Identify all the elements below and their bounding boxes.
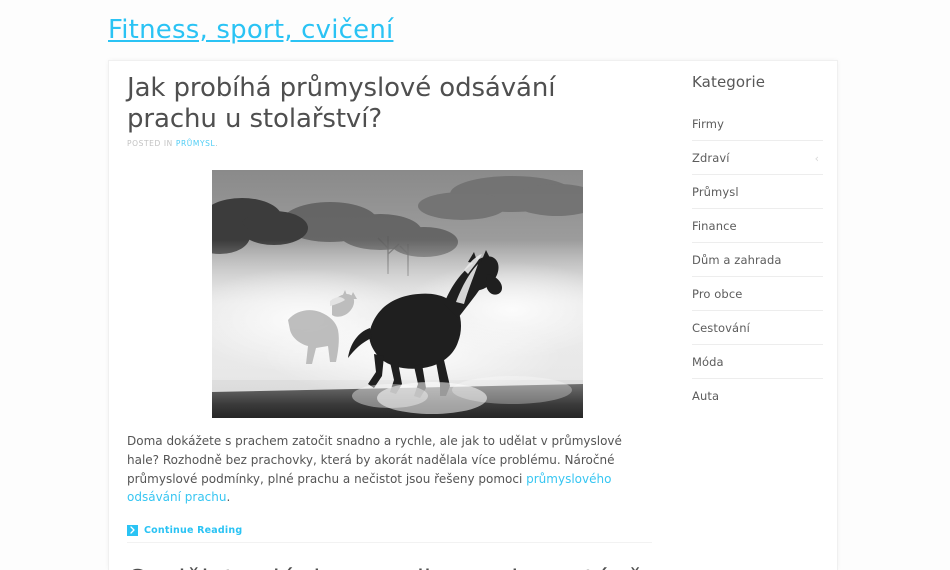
sidebar: Kategorie Firmy Zdraví ‹ Průmysl Finance… bbox=[674, 61, 837, 570]
sidebar-item-zdravi[interactable]: Zdraví ‹ bbox=[692, 141, 823, 175]
chevron-right-icon bbox=[127, 525, 138, 536]
featured-image-wrap bbox=[127, 170, 652, 418]
sidebar-item-label: Auta bbox=[692, 389, 719, 403]
sidebar-item-cestovani[interactable]: Cestování bbox=[692, 311, 823, 345]
sidebar-item-label: Průmysl bbox=[692, 185, 739, 199]
post-article: Jak probíhá průmyslové odsávání prachu u… bbox=[127, 73, 652, 542]
sidebar-item-pro-obce[interactable]: Pro obce bbox=[692, 277, 823, 311]
post-article: Co dělat celé dny s rodinou v karanténě … bbox=[127, 542, 652, 570]
sidebar-item-moda[interactable]: Móda bbox=[692, 345, 823, 379]
sidebar-item-label: Dům a zahrada bbox=[692, 253, 782, 267]
main-content-column: Jak probíhá průmyslové odsávání prachu u… bbox=[109, 61, 674, 570]
post-meta-category-link[interactable]: PRŮMYSL bbox=[176, 139, 215, 148]
sidebar-item-label: Finance bbox=[692, 219, 737, 233]
site-title[interactable]: Fitness, sport, cvičení bbox=[108, 17, 393, 43]
post-meta-suffix: . bbox=[215, 139, 218, 148]
sidebar-item-label: Firmy bbox=[692, 117, 724, 131]
post-title[interactable]: Co dělat celé dny s rodinou v karanténě bbox=[127, 565, 652, 570]
continue-reading-link[interactable]: Continue Reading bbox=[144, 525, 242, 536]
sidebar-item-label: Cestování bbox=[692, 321, 750, 335]
chevron-left-icon: ‹ bbox=[815, 153, 823, 164]
content-container: Jak probíhá průmyslové odsávání prachu u… bbox=[108, 60, 838, 570]
sidebar-item-prumysl[interactable]: Průmysl bbox=[692, 175, 823, 209]
sidebar-item-firmy[interactable]: Firmy bbox=[692, 107, 823, 141]
category-list: Firmy Zdraví ‹ Průmysl Finance Dům a zah… bbox=[692, 107, 823, 412]
featured-image-horses[interactable] bbox=[212, 170, 583, 418]
sidebar-title: Kategorie bbox=[692, 73, 823, 91]
post-title-text: Jak probíhá průmyslové odsávání prachu u… bbox=[127, 73, 555, 134]
continue-reading-row[interactable]: Continue Reading bbox=[127, 525, 652, 536]
sidebar-item-auta[interactable]: Auta bbox=[692, 379, 823, 412]
sidebar-item-label: Móda bbox=[692, 355, 724, 369]
post-title-text: Co dělat celé dny s rodinou v karanténě bbox=[127, 565, 643, 570]
site-header: Fitness, sport, cvičení bbox=[0, 0, 950, 60]
post-meta: POSTED IN PRŮMYSL. bbox=[127, 139, 652, 148]
post-title[interactable]: Jak probíhá průmyslové odsávání prachu u… bbox=[127, 73, 652, 134]
sidebar-item-dum-a-zahrada[interactable]: Dům a zahrada bbox=[692, 243, 823, 277]
sidebar-item-label: Pro obce bbox=[692, 287, 742, 301]
sidebar-item-label: Zdraví bbox=[692, 151, 730, 165]
post-body-text-after: . bbox=[227, 490, 231, 504]
sidebar-item-finance[interactable]: Finance bbox=[692, 209, 823, 243]
post-meta-prefix: POSTED IN bbox=[127, 139, 173, 148]
post-body: Doma dokážete s prachem zatočit snadno a… bbox=[127, 432, 652, 506]
